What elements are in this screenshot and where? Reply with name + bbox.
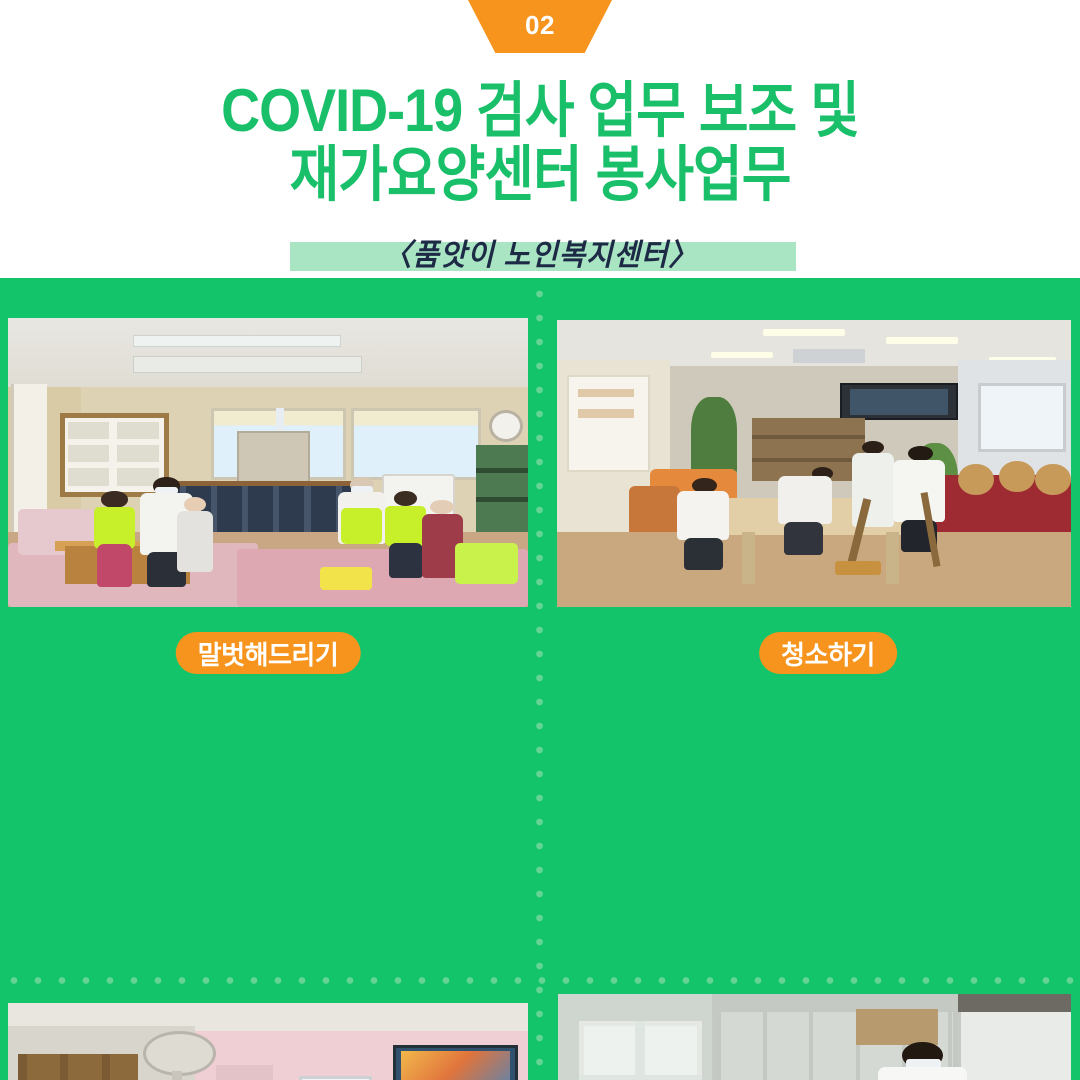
gallery-cell-1: 말벗해드리기 <box>0 278 536 977</box>
photo-1-image <box>8 318 528 607</box>
page-title: COVID-19 검사 업무 보조 및 재가요양센터 봉사업무 <box>0 76 1080 203</box>
photo-1-caption: 말벗해드리기 <box>176 632 361 674</box>
photo-2-caption-label: 청소하기 <box>781 635 875 672</box>
photo-1-caption-label: 말벗해드리기 <box>198 635 339 672</box>
photo-2-caption: 청소하기 <box>759 632 897 674</box>
step-number-label: 02 <box>525 12 555 42</box>
step-number-badge: 02 <box>468 0 612 53</box>
title-line-1: COVID-19 검사 업무 보조 및 <box>0 76 1080 147</box>
infographic-card: 02 COVID-19 검사 업무 보조 및 재가요양센터 봉사업무 〈품앗이 … <box>0 0 1080 1080</box>
subtitle-label: 〈품앗이 노인복지센터〉 <box>382 230 698 274</box>
title-line-2: 재가요양센터 봉사업무 <box>0 140 1080 211</box>
gallery-panel: 말벗해드리기 <box>0 278 1080 1080</box>
photo-2-image <box>557 320 1071 607</box>
header: 02 COVID-19 검사 업무 보조 및 재가요양센터 봉사업무 〈품앗이 … <box>0 0 1080 278</box>
divider-vertical-dotted <box>536 278 543 1080</box>
photo-4-image <box>558 994 1071 1080</box>
gallery-cell-4: 어르신동행 <box>543 984 1080 1080</box>
gallery-cell-3: 레크레이션 <box>0 984 536 1080</box>
photo-3-image <box>8 1003 528 1080</box>
subtitle: 〈품앗이 노인복지센터〉 <box>0 230 1080 274</box>
gallery-cell-2: 청소하기 <box>543 278 1080 977</box>
